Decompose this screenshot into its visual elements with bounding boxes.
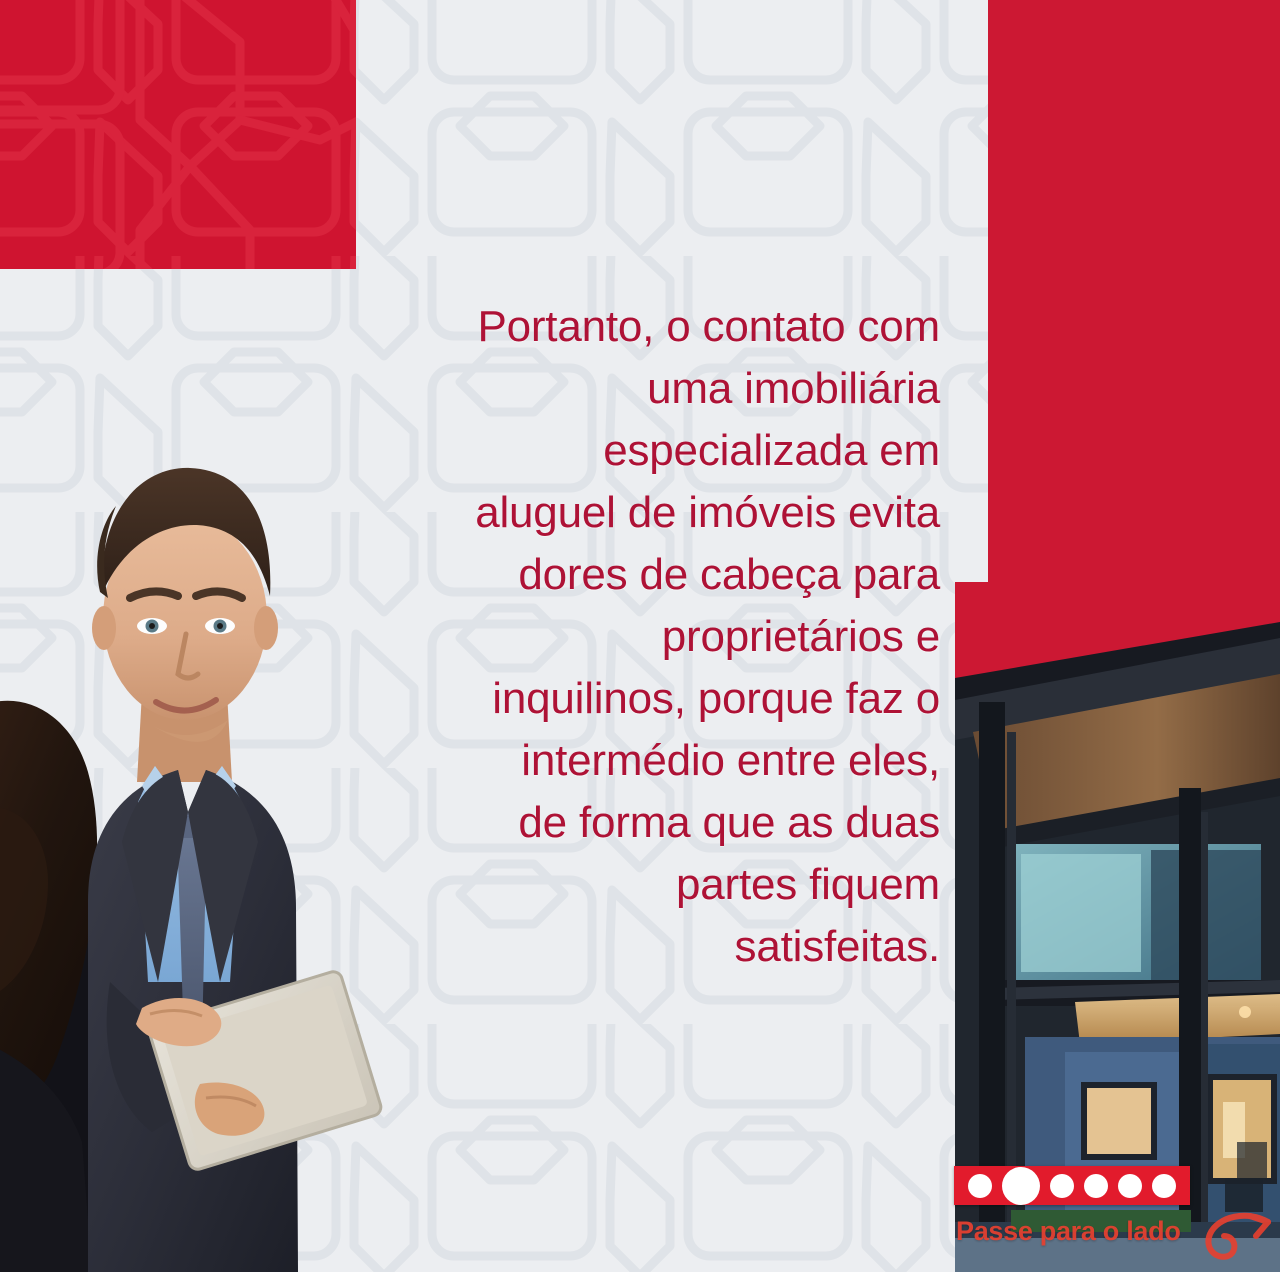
top-left-red-block [0,0,356,269]
carousel-dots-bar[interactable] [954,1166,1190,1205]
carousel-dot-1[interactable] [968,1174,992,1198]
carousel-slide: Portanto, o contato com uma imobiliária … [0,0,1280,1272]
swipe-caption: Passe para o lado [956,1216,1181,1247]
carousel-dot-6[interactable] [1152,1174,1176,1198]
people-photo [0,342,392,1272]
carousel-dot-5[interactable] [1118,1174,1142,1198]
headline-text: Portanto, o contato com uma imobiliária … [352,296,940,978]
carousel-dot-2-active[interactable] [1002,1167,1040,1205]
carousel-dot-3[interactable] [1050,1174,1074,1198]
carousel-dot-4[interactable] [1084,1174,1108,1198]
